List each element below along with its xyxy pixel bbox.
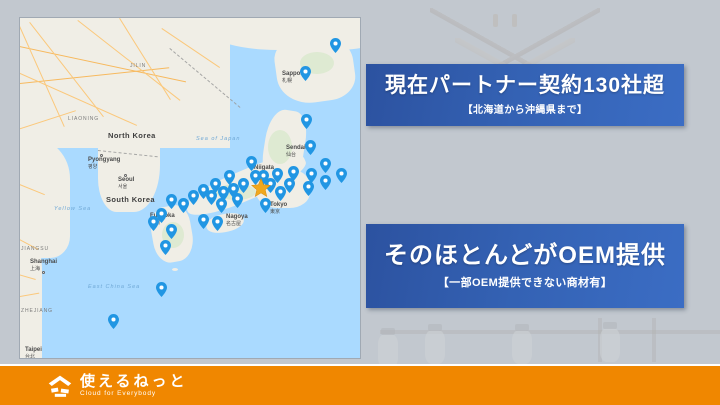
brand-logo[interactable]: 使えるねっと Cloud for Everybody: [47, 373, 188, 399]
map-label-nagoya: Nagoya名古屋: [226, 214, 248, 227]
map-label-pyongyang: Pyongyang평양: [88, 157, 120, 170]
map-pin[interactable]: [303, 181, 314, 196]
footer-bar: 使えるねっと Cloud for Everybody: [0, 366, 720, 405]
map-label-sendai: Sendai仙台: [286, 145, 306, 158]
map-label-seoul: Seoul서울: [118, 177, 134, 190]
map-pin[interactable]: [148, 216, 159, 231]
map-pin[interactable]: [224, 170, 235, 185]
map-pin[interactable]: [330, 38, 341, 53]
map-label-yellow-sea: Yellow Sea: [54, 206, 91, 212]
map-pin[interactable]: [320, 175, 331, 190]
map-pin[interactable]: [238, 178, 249, 193]
brand-tagline-en: Cloud for Everybody: [80, 391, 188, 398]
map-label-seoul-jp: 서울: [118, 183, 134, 190]
partner-count-title: 現在パートナー契約130社超: [385, 74, 665, 98]
brand-logo-text: 使えるねっと Cloud for Everybody: [80, 374, 188, 398]
slide: JILIN LIAONING North Korea Pyongyang평양 S…: [0, 0, 720, 405]
map-city-dot: [124, 174, 127, 177]
oem-callout: そのほとんどがOEM提供 【一部OEM提供できない商材有】: [366, 224, 684, 308]
map-label-taipei-jp: 台北: [25, 353, 42, 358]
map-pin[interactable]: [108, 314, 119, 329]
landmass-ryukyu-isle: [172, 268, 178, 271]
map-label-north-korea: North Korea: [108, 131, 156, 140]
map-pin[interactable]: [246, 156, 257, 171]
house-roof-logo-icon: [47, 373, 73, 399]
partner-count-callout: 現在パートナー契約130社超 【北海道から沖縄県まで】: [366, 64, 684, 126]
map-pin[interactable]: [188, 190, 199, 205]
map-label-tokyo-jp: 東京: [270, 208, 287, 215]
map-pin[interactable]: [301, 114, 312, 129]
map-label-sendai-jp: 仙台: [286, 151, 306, 158]
map-pin[interactable]: [198, 214, 209, 229]
map-pin[interactable]: [160, 240, 171, 255]
map-label-jilin: JILIN: [130, 63, 146, 69]
map-label-liaoning: LIAONING: [68, 116, 99, 122]
partner-count-subtitle: 【北海道から沖縄県まで】: [463, 101, 588, 116]
brand-name-jp: 使えるねっと: [80, 374, 188, 389]
map-city-dot: [100, 154, 103, 157]
map-pin[interactable]: [232, 193, 243, 208]
map-star-marker[interactable]: [251, 178, 271, 198]
map-label-nagoya-jp: 名古屋: [226, 220, 248, 227]
map-label-tokyo: Tokyo東京: [270, 202, 287, 215]
map-label-east-china-sea: East China Sea: [88, 284, 140, 290]
map-pin[interactable]: [216, 198, 227, 213]
map-pin[interactable]: [260, 198, 271, 213]
map-pin[interactable]: [272, 168, 283, 183]
map-label-zhejiang: ZHEJIANG: [21, 308, 53, 314]
map-pin[interactable]: [320, 158, 331, 173]
map-pin[interactable]: [212, 216, 223, 231]
map-label-taipei: Taipei台北: [25, 347, 42, 358]
oem-subtitle: 【一部OEM提供できない商材有】: [438, 274, 612, 290]
oem-title: そのほとんどがOEM提供: [384, 242, 666, 270]
map-pin[interactable]: [156, 282, 167, 297]
map-pin[interactable]: [300, 66, 311, 81]
map-pin[interactable]: [166, 194, 177, 209]
map-label-jiangsu: JIANGSU: [21, 246, 49, 252]
map-label-south-korea: South Korea: [106, 195, 155, 204]
map-pin[interactable]: [166, 224, 177, 239]
map-label-sea-of-japan: Sea of Japan: [196, 136, 240, 142]
map-pin[interactable]: [198, 184, 209, 199]
map-city-dot: [42, 271, 45, 274]
map-pin[interactable]: [275, 186, 286, 201]
map-pin[interactable]: [178, 198, 189, 213]
map-label-pyongyang-jp: 평양: [88, 163, 120, 170]
map-pin[interactable]: [336, 168, 347, 183]
map-pin[interactable]: [305, 140, 316, 155]
map[interactable]: JILIN LIAONING North Korea Pyongyang평양 S…: [20, 18, 360, 358]
